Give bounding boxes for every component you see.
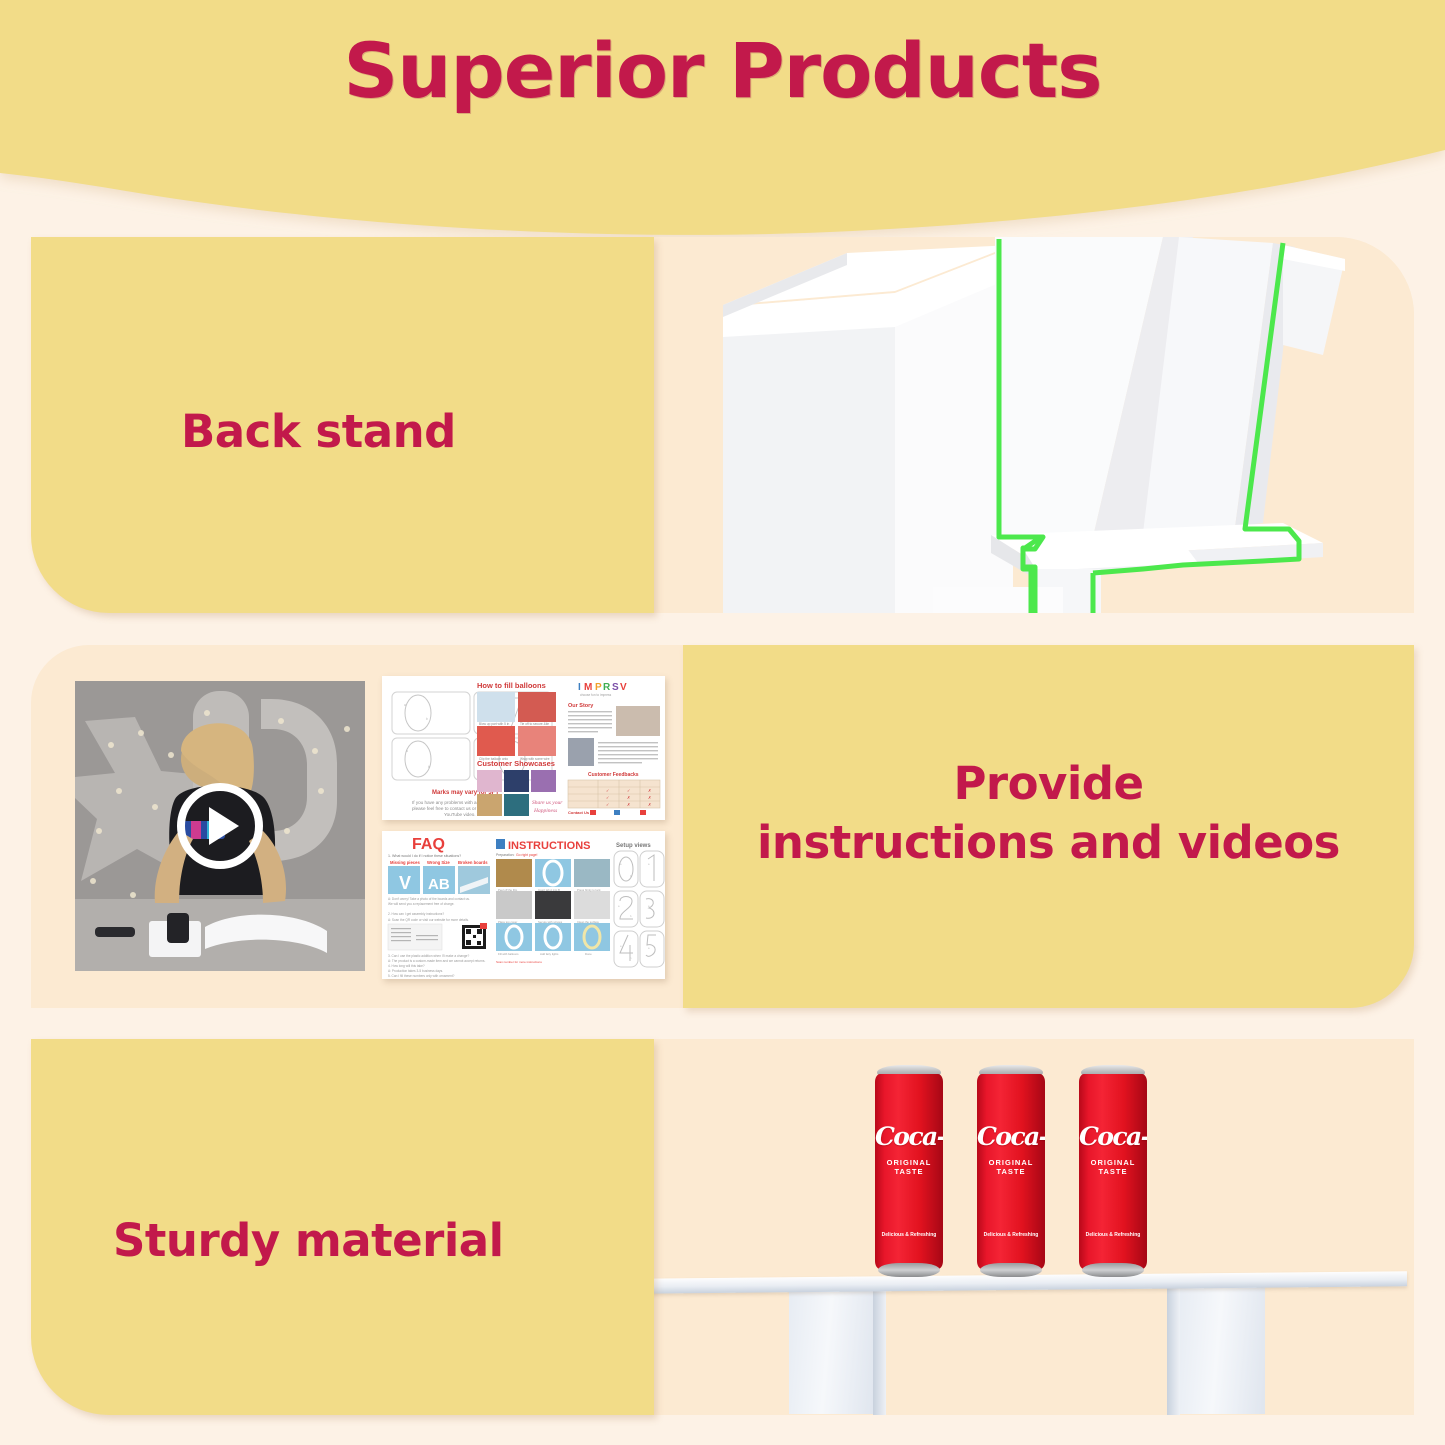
svg-text:✓: ✓	[627, 788, 630, 793]
svg-text:Share us your: Share us your	[532, 800, 563, 806]
svg-text:INSTRUCTIONS: INSTRUCTIONS	[508, 840, 591, 852]
svg-text:A: The product is a custom-mad: A: The product is a custom-made item and…	[388, 959, 485, 963]
coke-footer: Delicious & Refreshing	[1079, 1232, 1147, 1239]
instruction-sheet-faq[interactable]: FAQ 1. What would I do if I notice these…	[382, 831, 665, 979]
coke-subtitle: ORIGINAL TASTE	[1079, 1158, 1147, 1176]
svg-text:V: V	[399, 873, 411, 893]
svg-text:Contact Us: Contact Us	[568, 810, 590, 815]
svg-text:choose fun to impress: choose fun to impress	[580, 693, 612, 697]
coke-can: Coca-Cola ORIGINAL TASTE Delicious & Ref…	[1079, 1065, 1147, 1277]
coke-footer: Delicious & Refreshing	[875, 1232, 943, 1239]
svg-text:Blow up part with 5 in: Blow up part with 5 in	[479, 722, 510, 726]
sturdy-material-photo: Coca-Cola ORIGINAL TASTE Delicious & Ref…	[623, 1039, 1414, 1415]
svg-text:AB: AB	[428, 876, 450, 893]
svg-text:Wrong Size: Wrong Size	[427, 860, 450, 865]
shelf-support-right	[1179, 1286, 1265, 1414]
svg-text:A: Production takes 3-5 busine: A: Production takes 3-5 business days.	[388, 969, 443, 973]
svg-text:Missing pieces: Missing pieces	[390, 860, 420, 865]
svg-text:Place top cover: Place top cover	[498, 920, 517, 924]
svg-text:A: Scan the QR code or visit o: A: Scan the QR code or visit our website…	[388, 918, 469, 922]
svg-text:b: b	[426, 717, 428, 721]
svg-text:✓: ✓	[606, 788, 609, 793]
can-bottom	[980, 1263, 1042, 1277]
shelf-rib-left	[873, 1285, 886, 1415]
can-body: Coca-Cola ORIGINAL TASTE Delicious & Ref…	[875, 1074, 943, 1269]
svg-text:b: b	[428, 765, 430, 769]
svg-text:Press firmly to lock: Press firmly to lock	[577, 888, 601, 892]
svg-text:P: P	[595, 682, 602, 693]
svg-text:Insert tab A into B: Insert tab A into B	[538, 888, 560, 892]
svg-text:✗: ✗	[627, 795, 630, 800]
feature-card-sturdy-material: Coca-Cola ORIGINAL TASTE Delicious & Ref…	[31, 1039, 1414, 1415]
svg-text:✗: ✗	[648, 788, 651, 793]
svg-text:We will send you a replacement: We will send you a replacement free of c…	[388, 902, 454, 906]
svg-text:5. Can I fill these numbers on: 5. Can I fill these numbers only with or…	[388, 974, 455, 978]
coke-can: Coca-Cola ORIGINAL TASTE Delicious & Ref…	[977, 1065, 1045, 1277]
coke-subtitle: ORIGINAL TASTE	[977, 1158, 1045, 1176]
coke-subtitle: ORIGINAL TASTE	[875, 1158, 943, 1176]
svg-text:✗: ✗	[648, 802, 651, 807]
svg-text:S: S	[612, 682, 619, 693]
sturdy-material-label: Sturdy material	[113, 1214, 673, 1267]
coke-can: Coca-Cola ORIGINAL TASTE Delicious & Ref…	[875, 1065, 943, 1277]
svg-text:YouTube video.: YouTube video.	[444, 812, 476, 817]
instructions-label-line2: instructions and videos	[683, 814, 1414, 873]
video-thumbnail[interactable]	[75, 681, 365, 971]
svg-text:Peel off the film: Peel off the film	[498, 888, 518, 892]
instruction-sheet-balloons[interactable]: aba aba Marks may vary for 3FT If you ha…	[382, 676, 665, 820]
svg-text:Fill with balloons: Fill with balloons	[498, 952, 519, 956]
svg-text:✓: ✓	[606, 795, 609, 800]
svg-text:Customer Feedbacks: Customer Feedbacks	[588, 772, 639, 778]
coke-logo: Coca-Cola	[875, 1122, 943, 1151]
svg-text:✓: ✓	[606, 802, 609, 807]
coke-logo: Coca-Cola	[977, 1122, 1045, 1151]
svg-text:a: a	[404, 703, 406, 707]
coke-footer: Delicious & Refreshing	[977, 1232, 1045, 1239]
back-stand-photo	[623, 237, 1414, 613]
play-triangle-icon	[209, 807, 239, 845]
svg-text:M: M	[584, 682, 592, 693]
coke-logo: Coca-Cola	[1079, 1122, 1147, 1151]
instructions-panel: Provide instructions and videos	[683, 645, 1414, 1008]
svg-text:R: R	[603, 682, 611, 693]
instructions-label: Provide instructions and videos	[683, 755, 1414, 872]
page-title: Superior Products	[0, 26, 1445, 115]
svg-text:Preparation:: Preparation:	[496, 853, 515, 857]
shelf-support-left	[789, 1286, 875, 1414]
can-bottom	[878, 1263, 940, 1277]
can-bottom	[1082, 1263, 1144, 1277]
back-stand-panel: Back stand	[31, 237, 654, 613]
svg-text:Customer Showcases: Customer Showcases	[477, 759, 555, 768]
svg-text:Done: Done	[585, 952, 592, 956]
svg-text:A: Don't worry! Take a photo o: A: Don't worry! Take a photo of the boar…	[388, 897, 470, 901]
svg-text:2. How can I get assembly inst: 2. How can I get assembly instructions?	[388, 912, 444, 916]
svg-text:Broken boards: Broken boards	[458, 860, 488, 865]
infographic-page: Superior Products	[0, 0, 1445, 1445]
svg-text:Setup views: Setup views	[616, 843, 651, 849]
svg-text:Clean the surface: Clean the surface	[577, 920, 599, 924]
svg-text:a: a	[406, 749, 408, 753]
svg-text:4. How long will this take?: 4. How long will this take?	[388, 964, 425, 968]
svg-text:Tie off to secure &tie: Tie off to secure &tie	[520, 722, 549, 726]
svg-text:✗: ✗	[648, 795, 651, 800]
svg-text:Go right page!: Go right page!	[516, 853, 538, 857]
svg-text:Happiness: Happiness	[533, 808, 557, 814]
svg-text:Scan number for more instructi: Scan number for more instructions	[496, 960, 542, 964]
svg-text:FAQ: FAQ	[412, 836, 445, 853]
svg-text:Add fairy lights: Add fairy lights	[540, 952, 559, 956]
svg-text:How to fill balloons: How to fill balloons	[477, 681, 546, 690]
svg-text:Secure with screws: Secure with screws	[538, 920, 563, 924]
svg-text:Our Story: Our Story	[568, 703, 594, 709]
can-body: Coca-Cola ORIGINAL TASTE Delicious & Ref…	[1079, 1074, 1147, 1269]
instructions-label-line1: Provide	[683, 755, 1414, 814]
svg-text:✗: ✗	[627, 802, 630, 807]
svg-text:1. What would I do if I notice: 1. What would I do if I notice these sit…	[388, 854, 461, 858]
back-stand-label: Back stand	[181, 405, 611, 458]
svg-text:V: V	[620, 682, 627, 693]
svg-text:3. Can I use the plastic addit: 3. Can I use the plastic addition when I…	[388, 954, 469, 958]
can-body: Coca-Cola ORIGINAL TASTE Delicious & Ref…	[977, 1074, 1045, 1269]
play-button-icon[interactable]	[177, 783, 263, 869]
svg-text:I: I	[578, 682, 581, 693]
sturdy-material-panel: Sturdy material	[31, 1039, 654, 1415]
feature-card-back-stand: Back stand	[31, 237, 1414, 613]
shelf-rib-right	[1167, 1285, 1180, 1415]
